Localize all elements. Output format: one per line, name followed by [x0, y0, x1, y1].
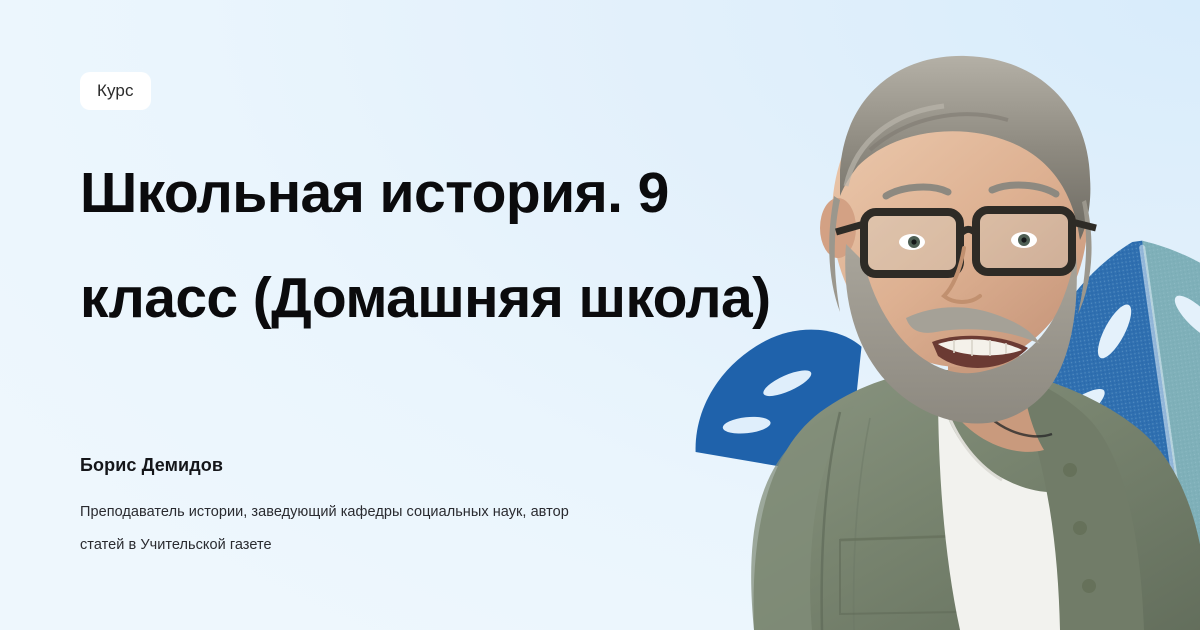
author-description-line-1: Преподаватель истории, заведующий кафедр…	[80, 496, 780, 529]
author-name: Борис Демидов	[80, 455, 600, 476]
title-line-1: Школьная история. 9	[80, 141, 860, 246]
title-line-2: класс (Домашняя школа)	[80, 246, 860, 351]
author-description: Преподаватель истории, заведующий кафедр…	[80, 496, 780, 562]
course-type-badge[interactable]: Курс	[80, 72, 151, 110]
author-description-line-2: статей в Учительской газете	[80, 529, 780, 562]
page-title: Школьная история. 9 класс (Домашняя школ…	[80, 141, 860, 351]
author-block: Борис Демидов Преподаватель истории, зав…	[80, 455, 600, 562]
course-promo-card: Курс Школьная история. 9 класс (Домашняя…	[0, 0, 1200, 630]
